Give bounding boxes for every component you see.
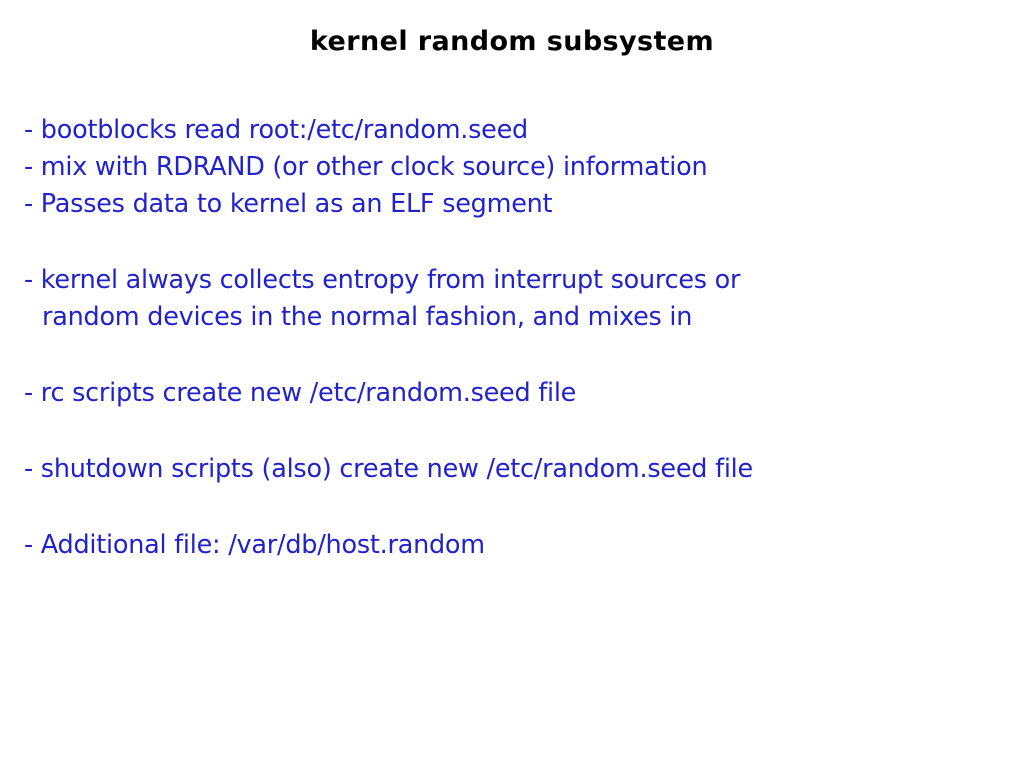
bullet-line: - shutdown scripts (also) create new /et… (24, 451, 1000, 488)
bullet-line: - kernel always collects entropy from in… (24, 262, 1000, 299)
bullet-group-rc-scripts: - rc scripts create new /etc/random.seed… (24, 375, 1000, 412)
bullet-group-boot: - bootblocks read root:/etc/random.seed … (24, 112, 1000, 223)
slide-body: - bootblocks read root:/etc/random.seed … (24, 112, 1000, 564)
bullet-line: - bootblocks read root:/etc/random.seed (24, 112, 1000, 149)
bullet-line: - rc scripts create new /etc/random.seed… (24, 375, 1000, 412)
bullet-line: - mix with RDRAND (or other clock source… (24, 149, 1000, 186)
bullet-line-continuation: random devices in the normal fashion, an… (24, 299, 1000, 336)
bullet-group-kernel-entropy: - kernel always collects entropy from in… (24, 262, 1000, 336)
presentation-slide: kernel random subsystem - bootblocks rea… (0, 0, 1024, 768)
bullet-line: - Passes data to kernel as an ELF segmen… (24, 186, 1000, 223)
bullet-group-additional-file: - Additional file: /var/db/host.random (24, 527, 1000, 564)
bullet-line: - Additional file: /var/db/host.random (24, 527, 1000, 564)
page-title: kernel random subsystem (0, 26, 1024, 57)
bullet-group-shutdown-scripts: - shutdown scripts (also) create new /et… (24, 451, 1000, 488)
